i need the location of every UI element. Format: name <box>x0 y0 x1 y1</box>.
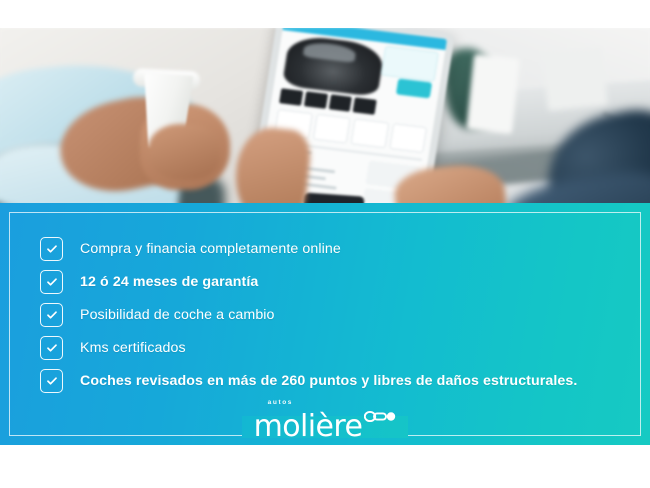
logo-wordmark: molière <box>254 412 363 442</box>
list-item: Coches revisados en más de 260 puntos y … <box>40 364 630 397</box>
tablet-dark-badge <box>302 192 365 203</box>
tablet-feature-icon <box>351 118 389 148</box>
checkbox-checked-icon <box>40 369 63 393</box>
list-item: Kms certificados <box>40 331 630 364</box>
tablet-thumbnail <box>304 91 328 108</box>
photo-paper-a <box>466 54 520 134</box>
tablet-price-panel <box>381 46 439 82</box>
tablet-thumbnail <box>328 94 352 111</box>
benefits-panel: Compra y financia completamente online 1… <box>0 203 650 445</box>
benefit-label: Coches revisados en más de 260 puntos y … <box>80 373 577 389</box>
checkbox-checked-icon <box>40 270 63 294</box>
checkbox-checked-icon <box>40 303 63 327</box>
benefit-label: Compra y financia completamente online <box>80 241 341 257</box>
benefit-label: 12 ó 24 meses de garantía <box>80 274 258 290</box>
tablet-feature-icon <box>312 114 350 144</box>
tablet-thumbnail <box>353 97 377 114</box>
brand-logo: autos molière <box>0 398 650 442</box>
photo-fingers-left <box>148 124 220 180</box>
benefits-list: Compra y financia completamente online 1… <box>40 232 630 397</box>
photo-paper-b <box>542 47 608 111</box>
tablet-thumbnail <box>279 88 303 105</box>
logo-tagline: autos <box>268 399 293 406</box>
list-item: Compra y financia completamente online <box>40 232 630 265</box>
benefit-label: Kms certificados <box>80 340 186 356</box>
tablet-feature-icon <box>389 123 427 153</box>
hero-photo <box>0 28 650 203</box>
list-item: Posibilidad de coche a cambio <box>40 298 630 331</box>
car-chain-icon <box>364 410 396 428</box>
list-item: 12 ó 24 meses de garantía <box>40 265 630 298</box>
banner-stage: Compra y financia completamente online 1… <box>0 0 650 488</box>
checkbox-checked-icon <box>40 336 63 360</box>
tablet-cta-button <box>396 78 432 98</box>
checkbox-checked-icon <box>40 237 63 261</box>
benefit-label: Posibilidad de coche a cambio <box>80 307 275 323</box>
